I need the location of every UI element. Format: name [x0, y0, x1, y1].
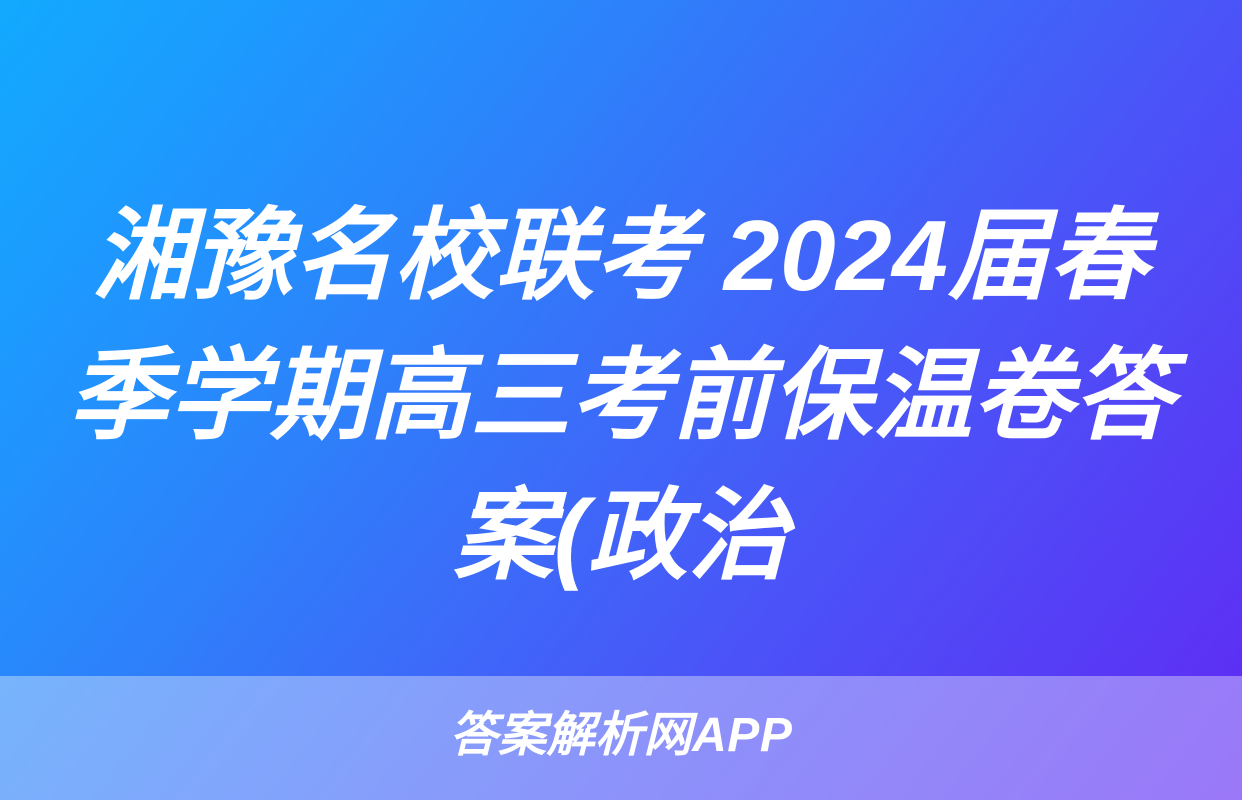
headline-line-3: 案(政治 [40, 466, 1202, 606]
poster-canvas: 湘豫名校联考 2024届春 季学期高三考前保温卷答 案(政治 答案解析网APP [0, 0, 1242, 800]
headline-line-1: 湘豫名校联考 2024届春 [40, 186, 1202, 326]
watermark-brand-label: 答案解析网APP [0, 708, 1242, 764]
page-title: 湘豫名校联考 2024届春 季学期高三考前保温卷答 案(政治 [0, 186, 1242, 606]
headline-line-2: 季学期高三考前保温卷答 [40, 326, 1202, 466]
